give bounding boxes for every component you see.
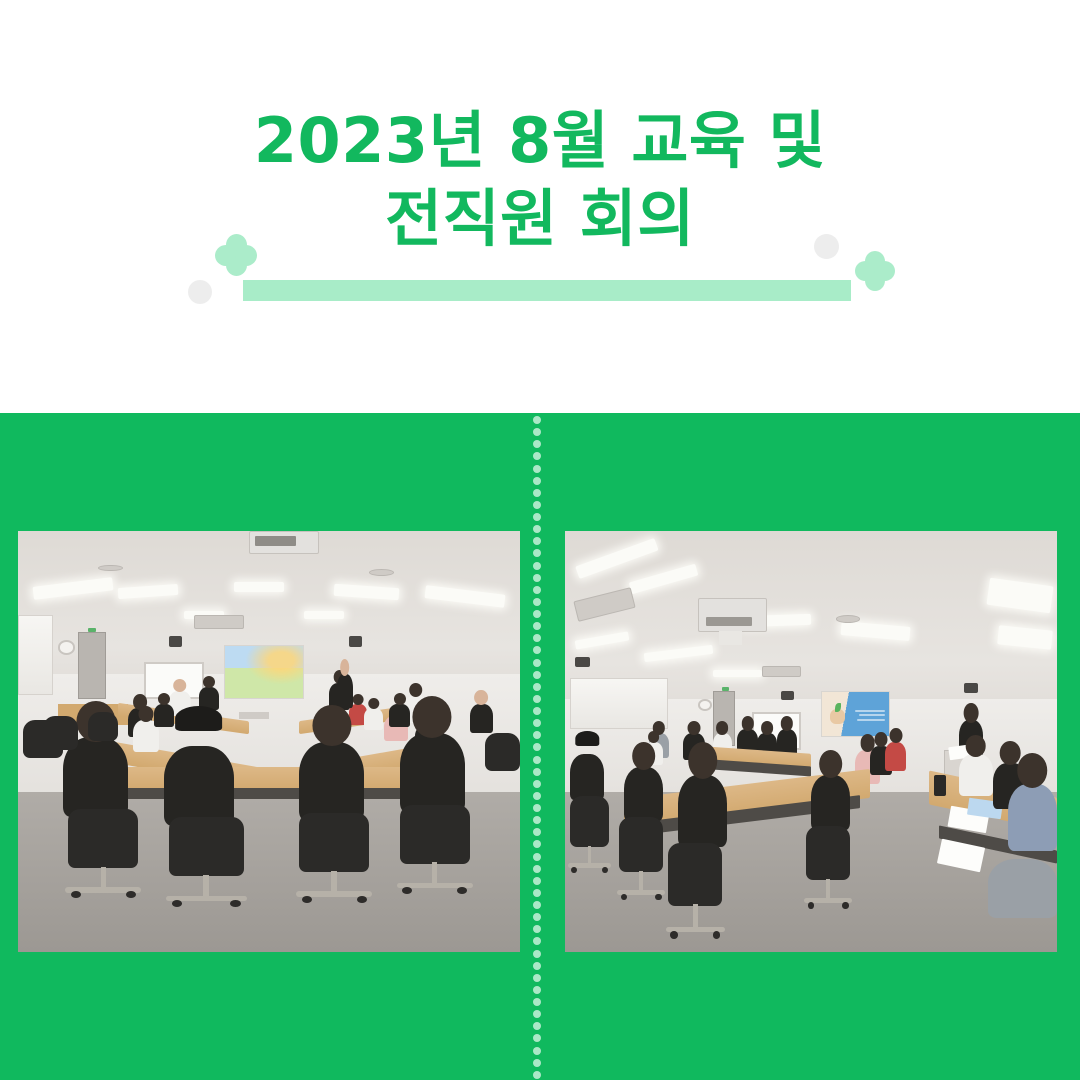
divider-dot [533, 865, 541, 873]
clover-icon-left [215, 234, 257, 276]
divider-dot [533, 610, 541, 618]
divider-dot [533, 743, 541, 751]
divider-dot [533, 1047, 541, 1055]
divider-dot [533, 998, 541, 1006]
title-underline-bar [243, 280, 851, 301]
divider-dot [533, 950, 541, 958]
divider-dot [533, 925, 541, 933]
divider-dot [533, 489, 541, 497]
divider-dot [533, 428, 541, 436]
dotted-divider [533, 413, 545, 1080]
page-title: 2023년 8월 교육 및 전직원 회의 [0, 102, 1080, 258]
poster-body [0, 413, 1080, 1080]
poster-header: 2023년 8월 교육 및 전직원 회의 [0, 0, 1080, 413]
divider-dot [533, 695, 541, 703]
photo-right [565, 531, 1057, 952]
poster-card: 2023년 8월 교육 및 전직원 회의 [0, 0, 1080, 1080]
divider-dot [533, 756, 541, 764]
divider-dot [533, 574, 541, 582]
divider-dot [533, 465, 541, 473]
divider-dot [533, 622, 541, 630]
divider-dot [533, 986, 541, 994]
divider-dot [533, 501, 541, 509]
title-line-1: 2023년 8월 교육 및 [0, 102, 1080, 180]
divider-dot [533, 683, 541, 691]
divider-dot [533, 913, 541, 921]
divider-dot [533, 513, 541, 521]
divider-dot [533, 840, 541, 848]
divider-dot [533, 646, 541, 654]
photo-left [18, 531, 520, 952]
title-line-2: 전직원 회의 [0, 180, 1080, 258]
divider-dot [533, 768, 541, 776]
divider-dot [533, 586, 541, 594]
divider-dot [533, 452, 541, 460]
divider-dot [533, 525, 541, 533]
clover-icon-right [855, 251, 895, 291]
divider-dot [533, 416, 541, 424]
divider-dot [533, 853, 541, 861]
dot-icon-left [188, 280, 212, 304]
divider-dot [533, 889, 541, 897]
divider-dot [533, 937, 541, 945]
divider-dot [533, 901, 541, 909]
divider-dot [533, 440, 541, 448]
divider-dot [533, 1034, 541, 1042]
dot-icon-right [814, 234, 839, 259]
divider-dot [533, 477, 541, 485]
divider-dot [533, 816, 541, 824]
divider-dot [533, 792, 541, 800]
divider-dot [533, 719, 541, 727]
divider-dot [533, 804, 541, 812]
divider-dot [533, 537, 541, 545]
divider-dot [533, 1022, 541, 1030]
divider-dot [533, 780, 541, 788]
divider-dot [533, 671, 541, 679]
divider-dot [533, 659, 541, 667]
divider-dot [533, 877, 541, 885]
divider-dot [533, 549, 541, 557]
divider-dot [533, 1010, 541, 1018]
divider-dot [533, 974, 541, 982]
divider-dot [533, 598, 541, 606]
divider-dot [533, 1059, 541, 1067]
divider-dot [533, 962, 541, 970]
divider-dot [533, 562, 541, 570]
divider-dot [533, 634, 541, 642]
divider-dot [533, 1071, 541, 1079]
divider-dot [533, 707, 541, 715]
divider-dot [533, 731, 541, 739]
divider-dot [533, 828, 541, 836]
